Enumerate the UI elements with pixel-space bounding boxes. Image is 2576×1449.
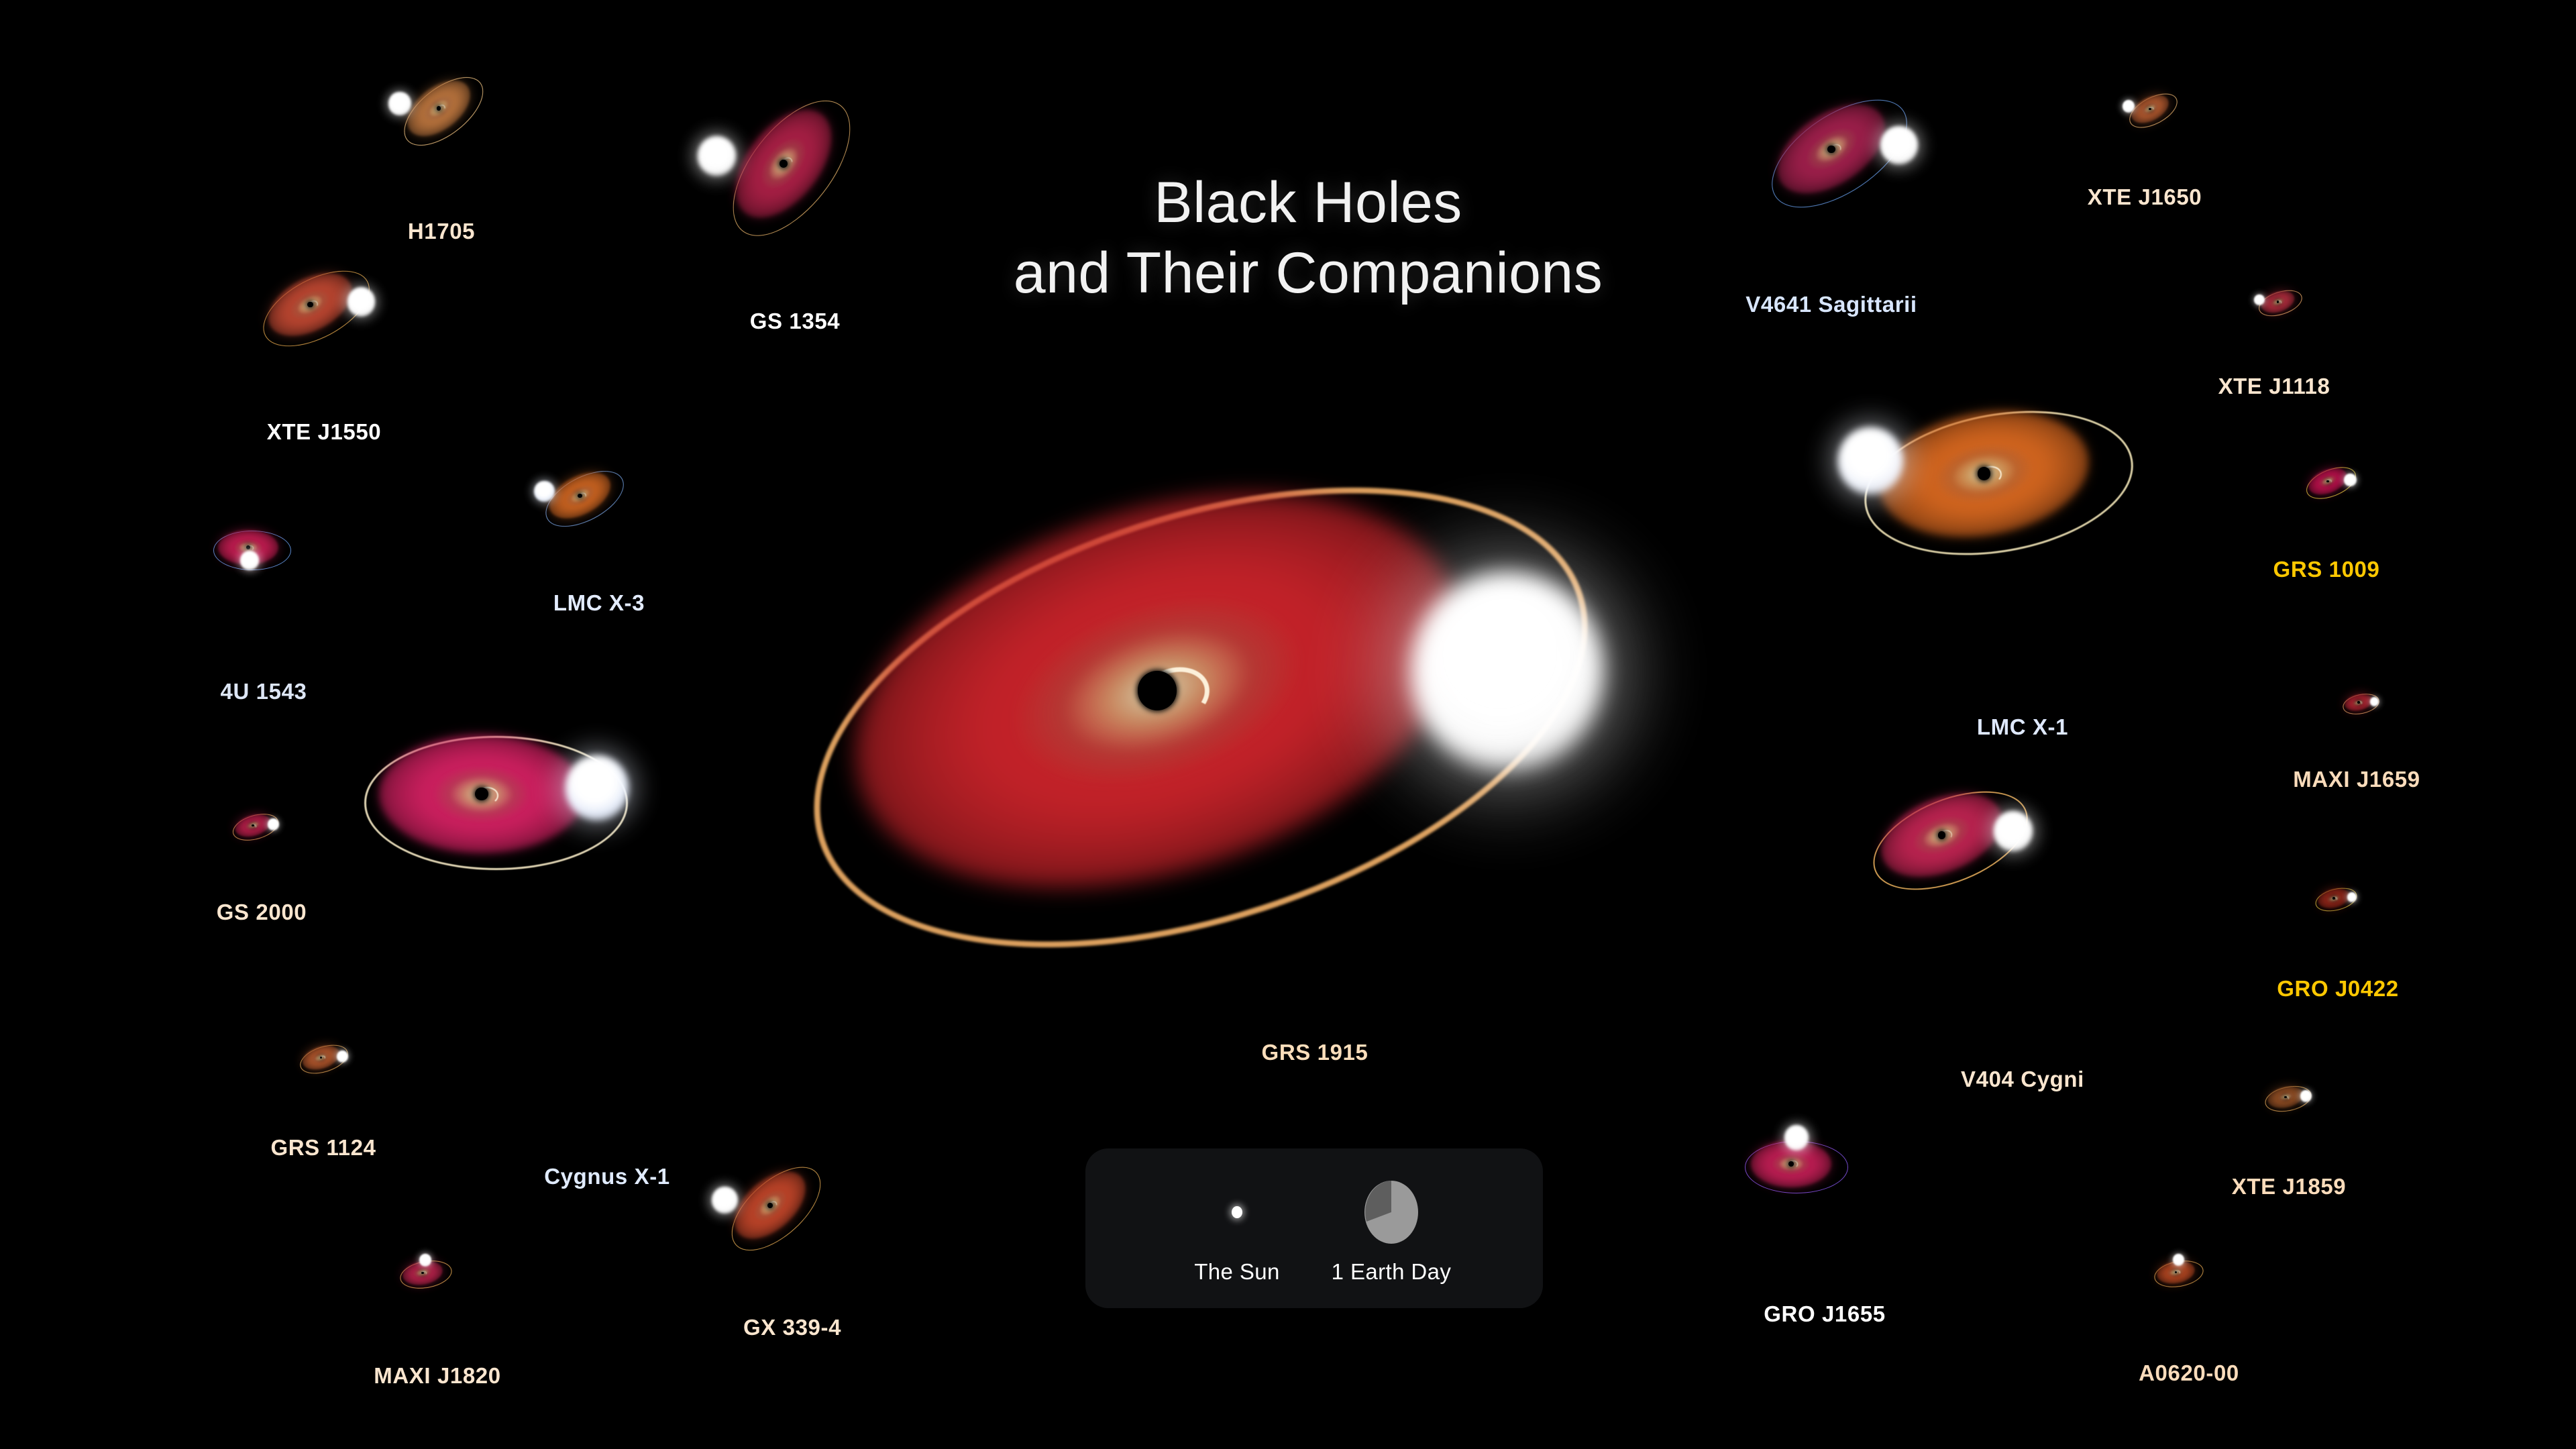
companion-star [2300, 1090, 2312, 1102]
companion-star [1880, 126, 1917, 164]
system-label: GRO J0422 [2277, 976, 2399, 1002]
companion-star [347, 287, 375, 316]
system-label: H1705 [408, 219, 475, 244]
star-core [2344, 474, 2356, 486]
system-label: GS 2000 [217, 900, 307, 925]
black-hole [475, 788, 488, 800]
starfield-canvas: Black Holes and Their Companions H1705GS… [0, 0, 2576, 1449]
system-label: GRS 1915 [1262, 1040, 1368, 1065]
companion-star [2347, 892, 2357, 902]
companion-star [2173, 1254, 2184, 1266]
star-core [1994, 811, 2033, 851]
system-label: 4U 1543 [221, 679, 307, 704]
companion-star [419, 1254, 431, 1267]
black-hole [1138, 671, 1177, 710]
black-hole [437, 106, 441, 111]
legend-item-earth-day: 1 Earth Day [1314, 1172, 1468, 1285]
legend-item-sun: The Sun [1160, 1172, 1314, 1285]
system-label: LMC X-3 [553, 590, 645, 616]
system-label: XTE J1650 [2088, 184, 2202, 210]
star-core [347, 287, 375, 316]
black-hole [2326, 480, 2329, 483]
system-label: GS 1354 [750, 309, 840, 334]
companion-star [2123, 100, 2135, 113]
system-label: Cygnus X-1 [544, 1164, 670, 1189]
system-label: GRS 1009 [2273, 557, 2380, 582]
star-core [419, 1254, 431, 1267]
system-label: A0620-00 [2139, 1360, 2239, 1386]
companion-star [1838, 427, 1903, 494]
system-label: LMC X-1 [1977, 714, 2068, 740]
companion-star [2344, 474, 2356, 486]
black-hole [307, 302, 313, 308]
legend-label-earth-day: 1 Earth Day [1332, 1259, 1452, 1285]
system-label: MAXI J1659 [2293, 767, 2420, 792]
star-core [698, 136, 736, 176]
companion-star [566, 755, 629, 821]
star-core [712, 1187, 738, 1214]
system-label: XTE J1118 [2218, 374, 2330, 399]
companion-star [1994, 811, 2033, 851]
system-label: V404 Cygni [1961, 1067, 2084, 1092]
companion-star [1784, 1125, 1809, 1150]
star-core [2300, 1090, 2312, 1102]
legend-label-sun: The Sun [1194, 1259, 1280, 1285]
black-hole [421, 1272, 424, 1275]
star-core [240, 551, 259, 570]
star-core [2123, 100, 2135, 113]
black-hole [1788, 1161, 1794, 1167]
star-core [388, 92, 411, 115]
black-hole [780, 160, 788, 168]
black-hole [578, 494, 582, 498]
system-label: V4641 Sagittarii [1746, 292, 1917, 317]
star-core [534, 481, 554, 502]
star-core [268, 818, 279, 830]
companion-star [712, 1187, 738, 1214]
black-hole [1827, 146, 1835, 153]
system-label: MAXI J1820 [374, 1363, 500, 1389]
system-label: XTE J1550 [267, 419, 382, 445]
companion-star [698, 136, 736, 176]
black-hole [767, 1203, 773, 1208]
companion-star [534, 481, 554, 502]
star-core [1880, 126, 1917, 164]
star-core [2254, 294, 2265, 305]
black-hole [2277, 301, 2279, 303]
legend-panel: The Sun 1 Earth Day [1085, 1148, 1543, 1308]
star-core [2370, 697, 2379, 706]
system-label: XTE J1859 [2232, 1174, 2347, 1199]
black-hole [2149, 108, 2151, 111]
star-core [1838, 427, 1903, 494]
system-label: GRS 1124 [270, 1135, 376, 1161]
earth-day-disc-icon [1362, 1172, 1420, 1252]
black-hole [1938, 831, 1946, 839]
star-core [566, 755, 629, 821]
companion-star [337, 1051, 348, 1063]
companion-star [240, 551, 259, 570]
black-hole [2357, 701, 2360, 704]
companion-star [388, 92, 411, 115]
companion-star [2370, 697, 2379, 706]
system-label: GX 339-4 [743, 1315, 841, 1340]
star-core [1411, 572, 1603, 771]
black-hole [2332, 897, 2335, 900]
system-label: GRO J1655 [1764, 1301, 1886, 1327]
star-core [337, 1051, 348, 1063]
sun-dot-icon [1232, 1172, 1242, 1252]
page-title: Black Holes and Their Companions [839, 168, 1778, 309]
companion-star [2254, 294, 2265, 305]
companion-star [1411, 572, 1603, 771]
companion-star [268, 818, 279, 830]
